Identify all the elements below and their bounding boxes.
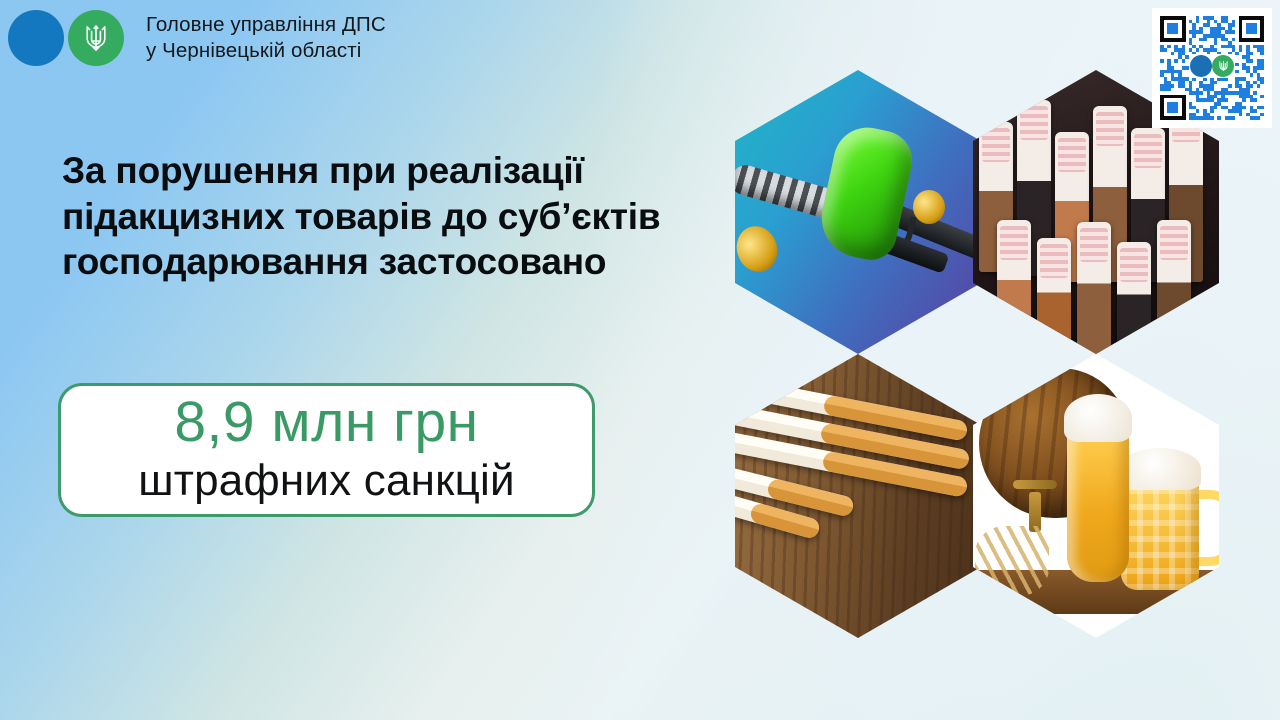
statistic-label: штрафних санкцій <box>138 459 514 503</box>
cigarettes-illustration <box>735 354 981 638</box>
statistic-value: 8,9 млн грн <box>174 394 478 451</box>
ukrainian-trident-icon <box>83 22 109 54</box>
qr-trident-icon <box>1218 59 1229 73</box>
beer-illustration <box>973 354 1219 638</box>
qr-logo-blue-circle-icon <box>1190 55 1212 77</box>
organization-title: Головне управління ДПС у Чернівецькій об… <box>146 12 386 63</box>
headline-text: За порушення при реалізації підакцизних … <box>62 148 752 285</box>
statistic-callout-box: 8,9 млн грн штрафних санкцій <box>58 383 595 517</box>
infographic-poster: Головне управління ДПС у Чернівецькій об… <box>0 0 1280 720</box>
qr-center-logo <box>1189 54 1235 78</box>
organization-logo <box>8 10 132 66</box>
hexagon-image-fuel <box>735 70 981 354</box>
qr-finder-bottom-left <box>1160 95 1186 121</box>
fuel-nozzle-illustration <box>735 70 981 354</box>
qr-logo-green-circle-icon <box>1212 55 1234 77</box>
logo-blue-circle-icon <box>8 10 64 66</box>
qr-finder-top-left <box>1160 16 1186 42</box>
logo-green-circle-icon <box>68 10 124 66</box>
qr-finder-top-right <box>1239 16 1265 42</box>
header: Головне управління ДПС у Чернівецькій об… <box>0 0 560 76</box>
hexagon-image-beer <box>973 354 1219 638</box>
hexagon-image-cigarettes <box>735 354 981 638</box>
qr-code[interactable] <box>1152 8 1272 128</box>
